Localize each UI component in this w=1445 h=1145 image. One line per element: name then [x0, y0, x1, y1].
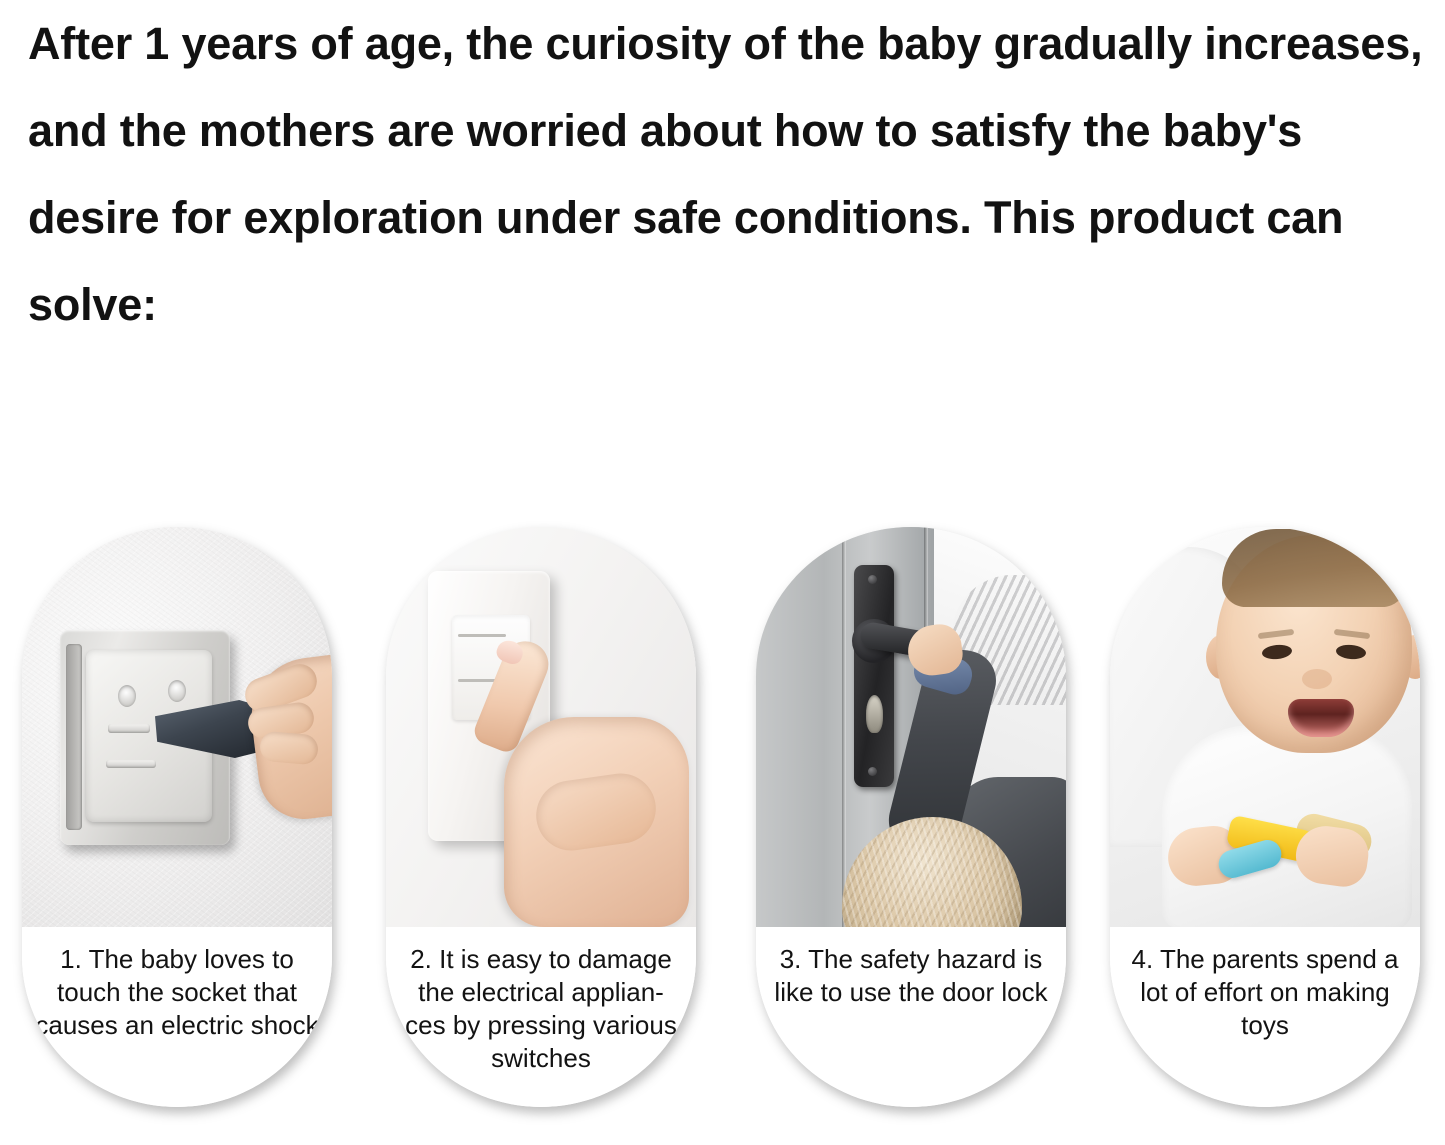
problem-card-3: 3. The safety hazard is like to use the … — [756, 527, 1066, 1107]
screw-icon — [868, 767, 877, 776]
screw-icon — [868, 575, 877, 584]
photo-door-lock — [756, 527, 1066, 927]
socket-earth-clip-icon — [108, 724, 150, 733]
door-groove — [842, 527, 846, 927]
socket-hole-icon — [118, 685, 136, 707]
baby-mouth-shape — [1288, 699, 1354, 737]
problem-panels-row: 1. The baby loves to touch the socket th… — [0, 527, 1445, 1112]
problem-card-4-caption: 4. The parents spend a lot of effort on … — [1110, 927, 1420, 1107]
socket-earth-clip-icon — [106, 760, 156, 768]
photo-light-switch — [386, 527, 696, 927]
keyhole-icon — [866, 695, 883, 733]
problem-card-1: 1. The baby loves to touch the socket th… — [22, 527, 332, 1107]
problem-card-2-caption: 2. It is easy to damage the electrical a… — [386, 927, 696, 1107]
door-handle-plate-icon — [854, 565, 894, 787]
problem-card-4: 4. The parents spend a lot of effort on … — [1110, 527, 1420, 1107]
baby-nose-shape — [1302, 669, 1332, 689]
baby-hair-shape — [1222, 529, 1406, 607]
photo-baby-toy — [1110, 527, 1420, 927]
page-headline: After 1 years of age, the curiosity of t… — [28, 0, 1428, 348]
switch-detail-line — [458, 634, 506, 637]
problem-card-2: 2. It is easy to damage the electrical a… — [386, 527, 696, 1107]
photo-socket-shock — [22, 527, 332, 927]
finger-shape — [259, 731, 319, 766]
problem-card-1-caption: 1. The baby loves to touch the socket th… — [22, 927, 332, 1107]
socket-hole-icon — [168, 680, 186, 702]
problem-card-3-caption: 3. The safety hazard is like to use the … — [756, 927, 1066, 1107]
